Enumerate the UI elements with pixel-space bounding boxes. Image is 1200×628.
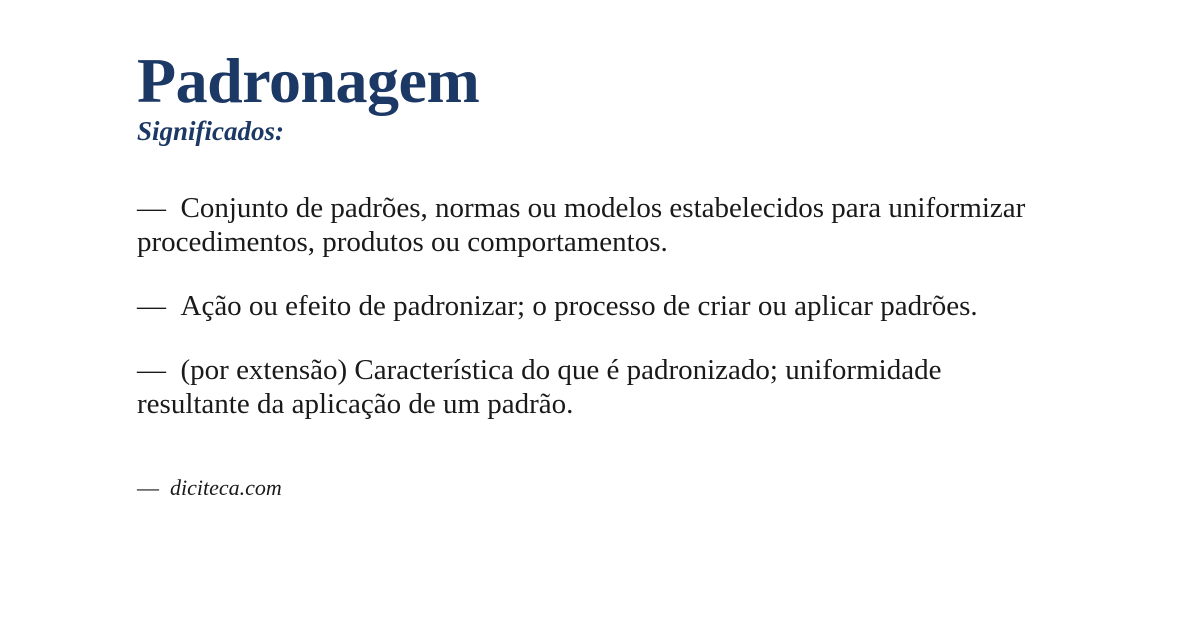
card-footer: — diciteca.com xyxy=(137,475,1067,501)
meanings-label: Significados: xyxy=(137,117,1067,147)
definition-text: (por extensão) Característica do que é p… xyxy=(137,354,941,420)
source-attribution: — diciteca.com xyxy=(137,475,1067,501)
definition-card: Padronagem Significados: — Conjunto de p… xyxy=(0,0,1200,628)
definition-text: Conjunto de padrões, normas ou modelos e… xyxy=(137,192,1025,258)
em-dash-icon: — xyxy=(137,475,170,500)
definition-item: — Ação ou efeito de padronizar; o proces… xyxy=(137,289,1052,323)
source-name: diciteca.com xyxy=(170,475,282,500)
em-dash-icon: — xyxy=(137,290,181,322)
content-column: Padronagem Significados: — Conjunto de p… xyxy=(137,0,1067,501)
definition-text: Ação ou efeito de padronizar; o processo… xyxy=(181,290,978,322)
definitions-list: — Conjunto de padrões, normas ou modelos… xyxy=(137,191,1067,421)
card-header: Padronagem Significados: xyxy=(137,0,1067,147)
page-title: Padronagem xyxy=(137,48,1067,113)
em-dash-icon: — xyxy=(137,354,181,386)
em-dash-icon: — xyxy=(137,192,181,224)
definition-item: — (por extensão) Característica do que é… xyxy=(137,353,1052,421)
definition-item: — Conjunto de padrões, normas ou modelos… xyxy=(137,191,1052,259)
